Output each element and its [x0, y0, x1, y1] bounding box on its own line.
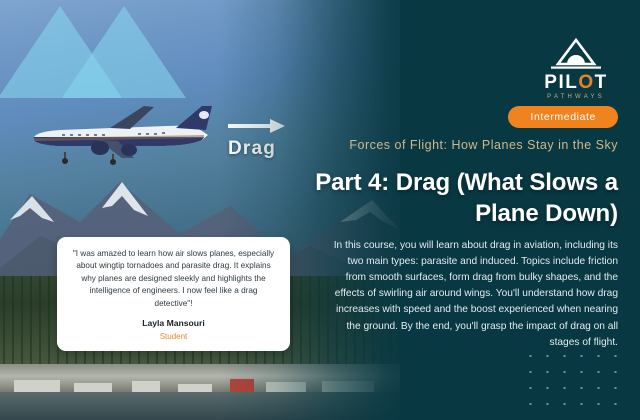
course-banner: Drag "I was amazed to learn how air slow…	[0, 0, 640, 420]
difficulty-badge[interactable]: Intermediate	[508, 106, 618, 128]
course-description: In this course, you will learn about dra…	[328, 238, 618, 351]
brand-name-o: O	[578, 72, 594, 93]
brand-name-part2: T	[595, 72, 608, 93]
brand-tagline: PATHWAYS	[534, 94, 618, 100]
brand-wordmark: PILOT	[534, 73, 618, 92]
pilot-pathways-mountain-icon	[549, 38, 603, 72]
course-series-subtitle: Forces of Flight: How Planes Stay in the…	[288, 138, 618, 152]
brand-logo[interactable]: PILOT PATHWAYS	[534, 38, 618, 100]
brand-name-part1: PIL	[544, 72, 578, 93]
testimonial-card: "I was amazed to learn how air slows pla…	[57, 237, 290, 351]
course-title: Part 4: Drag (What Slows a Plane Down)	[288, 168, 618, 229]
testimonial-role: Student	[70, 332, 277, 341]
testimonial-quote: "I was amazed to learn how air slows pla…	[70, 248, 277, 310]
dot-grid-decor	[522, 348, 626, 408]
testimonial-author: Layla Mansouri	[70, 318, 277, 328]
